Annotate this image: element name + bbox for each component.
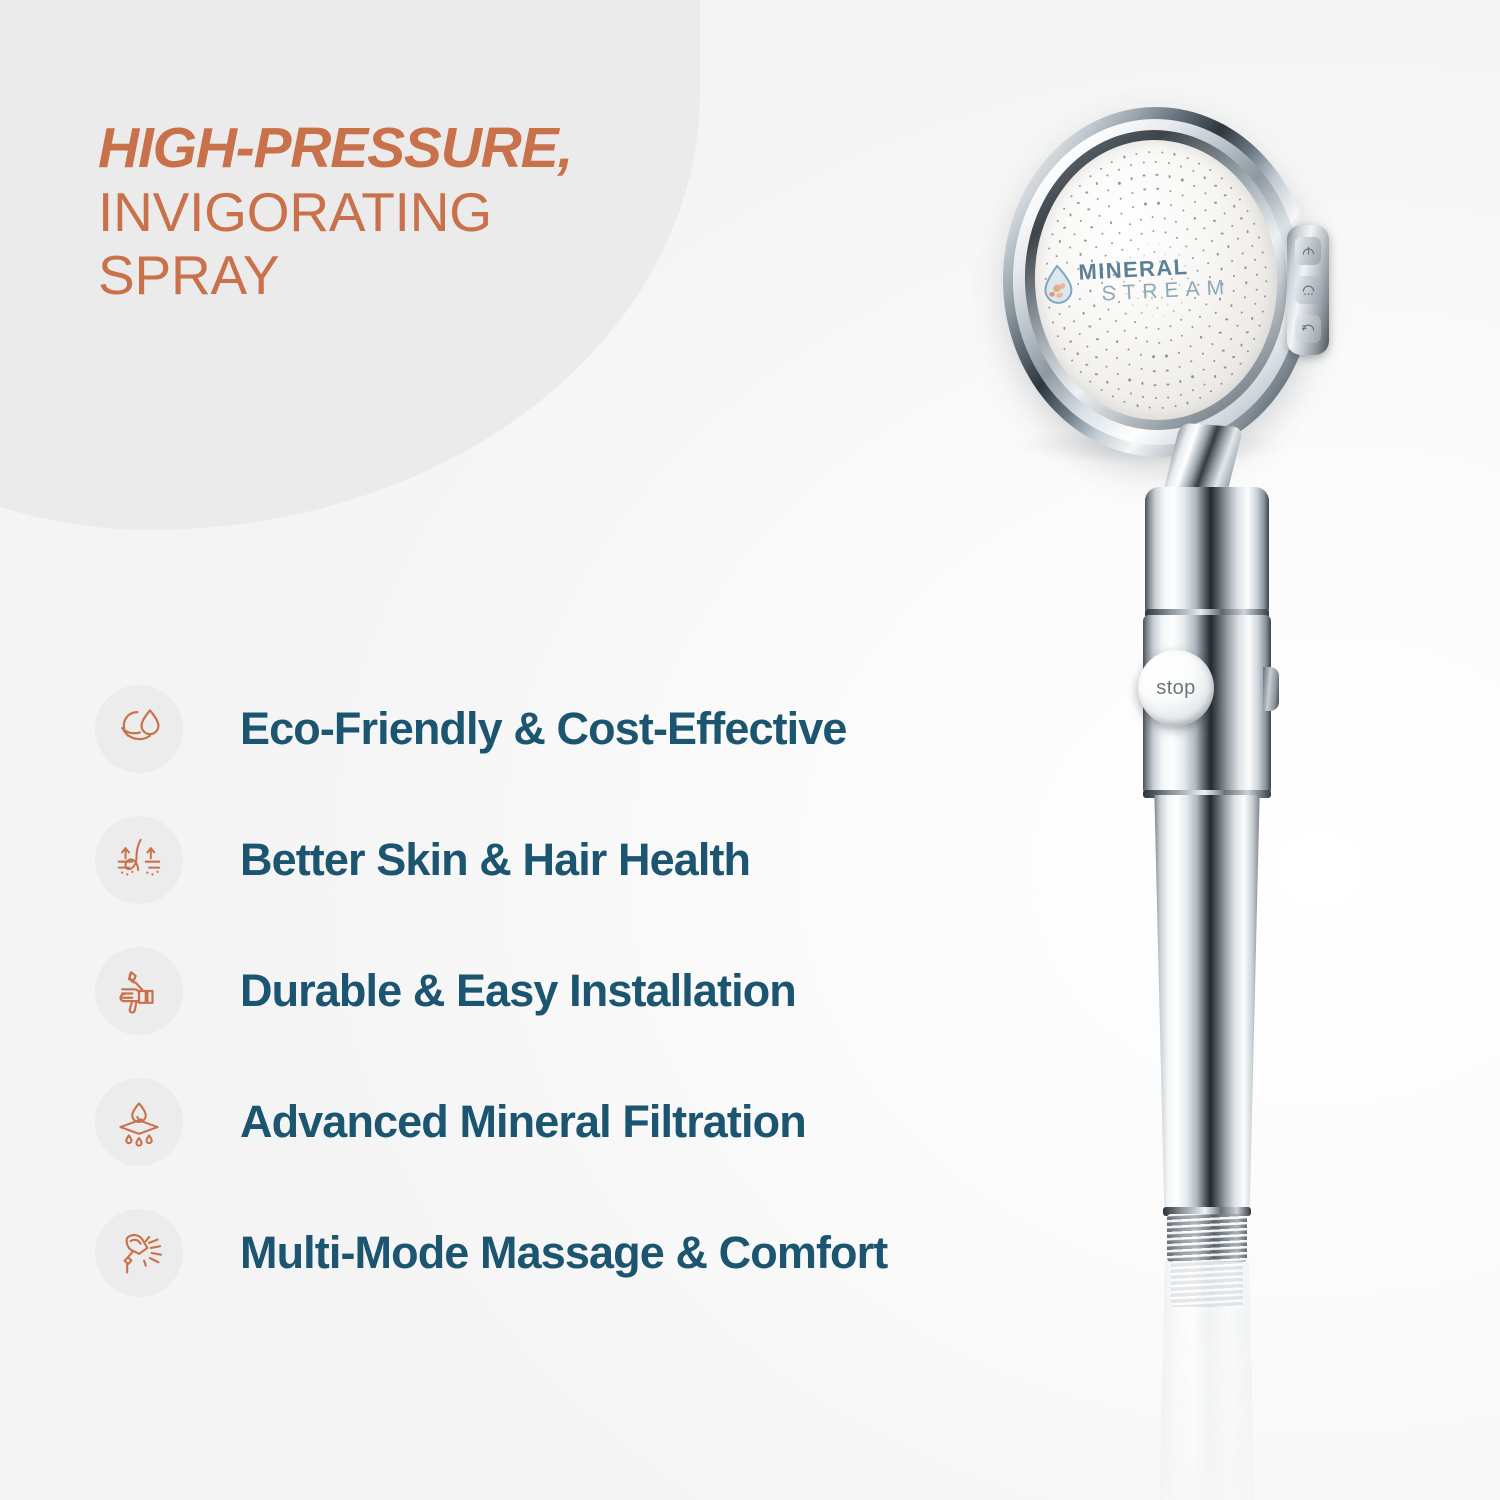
headline-line-2: INVIGORATING [98,183,738,241]
water-filter-drops-icon [95,1078,183,1166]
page-title: HIGH-PRESSURE, INVIGORATING SPRAY [98,118,738,304]
stop-button-label: stop [1156,677,1195,700]
product-image: MINERAL STREAM [975,95,1395,1500]
hand-wrench-icon [95,947,183,1035]
feature-list: Eco-Friendly & Cost-Effective [95,685,1085,1297]
spray-mode-jet-button[interactable] [1295,237,1321,265]
spray-mode-selector[interactable] [1287,225,1329,355]
list-item-label: Eco-Friendly & Cost-Effective [240,704,847,754]
handle-side-nub [1263,667,1279,711]
list-item: Durable & Easy Installation [95,947,1085,1035]
list-item-label: Better Skin & Hair Health [240,835,750,885]
hair-follicle-arrows-icon [95,816,183,904]
shower-head: MINERAL STREAM [985,95,1325,475]
stop-button[interactable]: stop [1138,650,1214,726]
list-item: Eco-Friendly & Cost-Effective [95,685,1085,773]
list-item: Advanced Mineral Filtration [95,1078,1085,1166]
handheld-shower-spray-icon [95,1209,183,1297]
reflection-thread-detail [1171,1261,1243,1307]
headline-line-1: HIGH-PRESSURE, [98,118,738,178]
handle-grip [1151,795,1263,1215]
list-item: Multi-Mode Massage & Comfort [95,1209,1085,1297]
spray-mode-rain-button[interactable] [1295,276,1321,304]
list-item-label: Advanced Mineral Filtration [240,1097,806,1147]
infographic-canvas: HIGH-PRESSURE, INVIGORATING SPRAY Eco-Fr… [0,0,1500,1500]
list-item-label: Durable & Easy Installation [240,966,796,1016]
headline-line-3: SPRAY [98,246,738,304]
list-item-label: Multi-Mode Massage & Comfort [240,1227,887,1278]
hand-water-drop-icon [95,685,183,773]
spray-face: MINERAL STREAM [1028,134,1284,426]
handle-upper-collar [1145,487,1269,615]
threaded-hose-connector [1167,1214,1247,1262]
nozzle-holes [1028,134,1284,426]
spray-mode-massage-button[interactable] [1295,315,1321,343]
list-item: Better Skin & Hair Health [95,816,1085,904]
